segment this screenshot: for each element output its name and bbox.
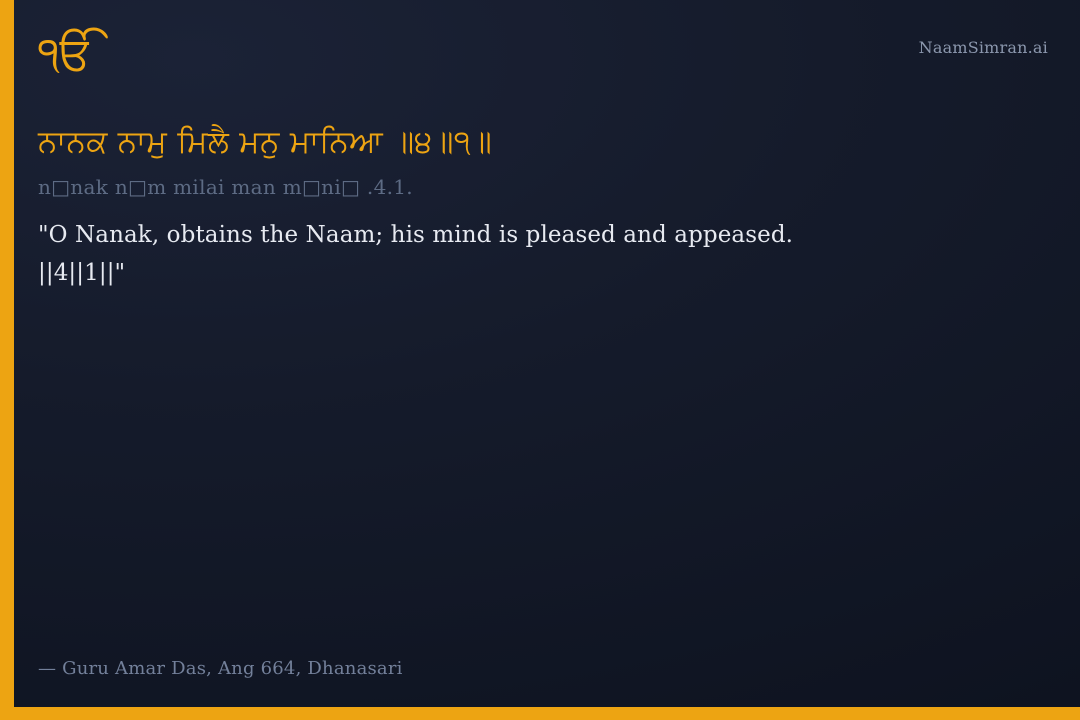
translation-text: "O Nanak, obtains the Naam; his mind is … xyxy=(38,216,798,292)
verse-block: ਨਾਨਕ ਨਾਮੁ ਮਿਲੈ ਮਨੁ ਮਾਨਿਆ ॥੪॥੧॥ n□nak n□m… xyxy=(38,120,1050,292)
accent-bar-bottom xyxy=(0,707,1080,720)
card-header: ੴ NaamSimran.ai xyxy=(38,24,1050,88)
accent-bar-left xyxy=(0,0,14,720)
brand-wordmark: NaamSimran.ai xyxy=(919,38,1048,58)
scripture-quote-card: ੴ NaamSimran.ai ਨਾਨਕ ਨਾਮੁ ਮਿਲੈ ਮਨੁ ਮਾਨਿਆ… xyxy=(0,0,1080,720)
transliteration-line: n□nak n□m milai man m□ni□ .4.1. xyxy=(38,172,1050,202)
ik-onkar-icon: ੴ xyxy=(38,24,94,82)
attribution-footer: — Guru Amar Das, Ang 664, Dhanasari xyxy=(38,657,403,681)
card-content: ੴ NaamSimran.ai ਨਾਨਕ ਨਾਮੁ ਮਿਲੈ ਮਨੁ ਮਾਨਿਆ… xyxy=(38,0,1050,707)
gurmukhi-line: ਨਾਨਕ ਨਾਮੁ ਮਿਲੈ ਮਨੁ ਮਾਨਿਆ ॥੪॥੧॥ xyxy=(38,120,1050,164)
